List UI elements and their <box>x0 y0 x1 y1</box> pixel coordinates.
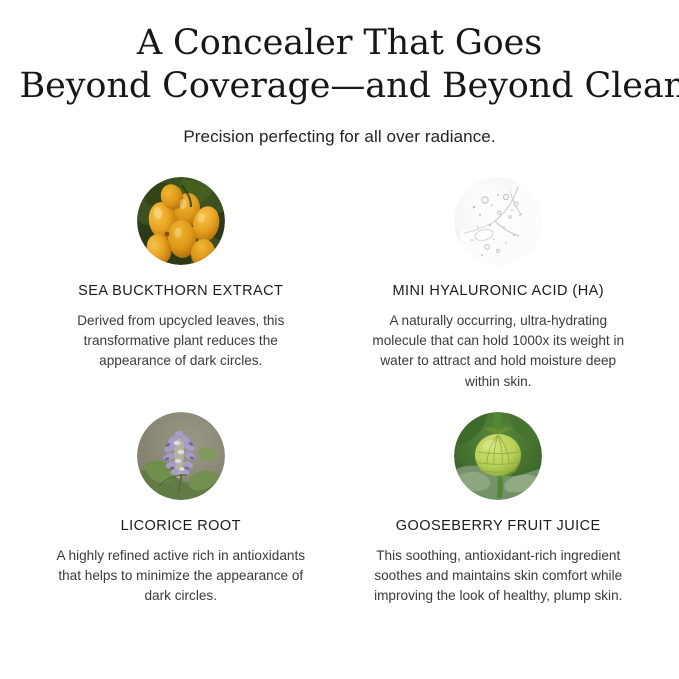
ingredient-name: SEA BUCKTHORN EXTRACT <box>32 283 330 300</box>
page-subtitle: Precision perfecting for all over radian… <box>0 126 679 148</box>
gooseberry-fruit-icon <box>454 412 542 500</box>
ingredient-benefits-page: A Concealer That Goes Beyond Coverage—an… <box>0 0 679 679</box>
ingredient-card-hyaluronic-acid: MINI HYALURONIC ACID (HA) A naturally oc… <box>340 177 658 392</box>
sea-buckthorn-thumbnail <box>137 177 225 265</box>
ingredient-card-gooseberry: GOOSEBERRY FRUIT JUICE This soothing, an… <box>340 412 658 607</box>
ingredient-card-licorice-root: LICORICE ROOT A highly refined active ri… <box>22 412 340 607</box>
page-title-line-2: Beyond Coverage—and Beyond Clean <box>20 65 660 108</box>
licorice-root-thumbnail <box>137 412 225 500</box>
hyaluronic-acid-gel-icon <box>454 177 542 265</box>
ingredient-name: LICORICE ROOT <box>32 518 330 535</box>
ingredient-description: A highly refined active rich in antioxid… <box>53 546 308 606</box>
ingredient-grid: SEA BUCKTHORN EXTRACT Derived from upcyc… <box>0 177 679 607</box>
ingredient-name: GOOSEBERRY FRUIT JUICE <box>350 518 648 535</box>
sea-buckthorn-berries-icon <box>137 177 225 265</box>
page-title: A Concealer That Goes Beyond Coverage—an… <box>20 22 660 109</box>
page-header: A Concealer That Goes Beyond Coverage—an… <box>0 0 679 148</box>
ingredient-card-sea-buckthorn: SEA BUCKTHORN EXTRACT Derived from upcyc… <box>22 177 340 392</box>
ingredient-name: MINI HYALURONIC ACID (HA) <box>350 283 648 300</box>
ingredient-description: A naturally occurring, ultra-hydrating m… <box>371 311 626 391</box>
page-title-line-1: A Concealer That Goes <box>20 22 660 65</box>
hyaluronic-acid-thumbnail <box>454 177 542 265</box>
ingredient-description: Derived from upcycled leaves, this trans… <box>53 311 308 371</box>
ingredient-description: This soothing, antioxidant-rich ingredie… <box>371 546 626 606</box>
licorice-root-flower-icon <box>137 412 225 500</box>
gooseberry-thumbnail <box>454 412 542 500</box>
